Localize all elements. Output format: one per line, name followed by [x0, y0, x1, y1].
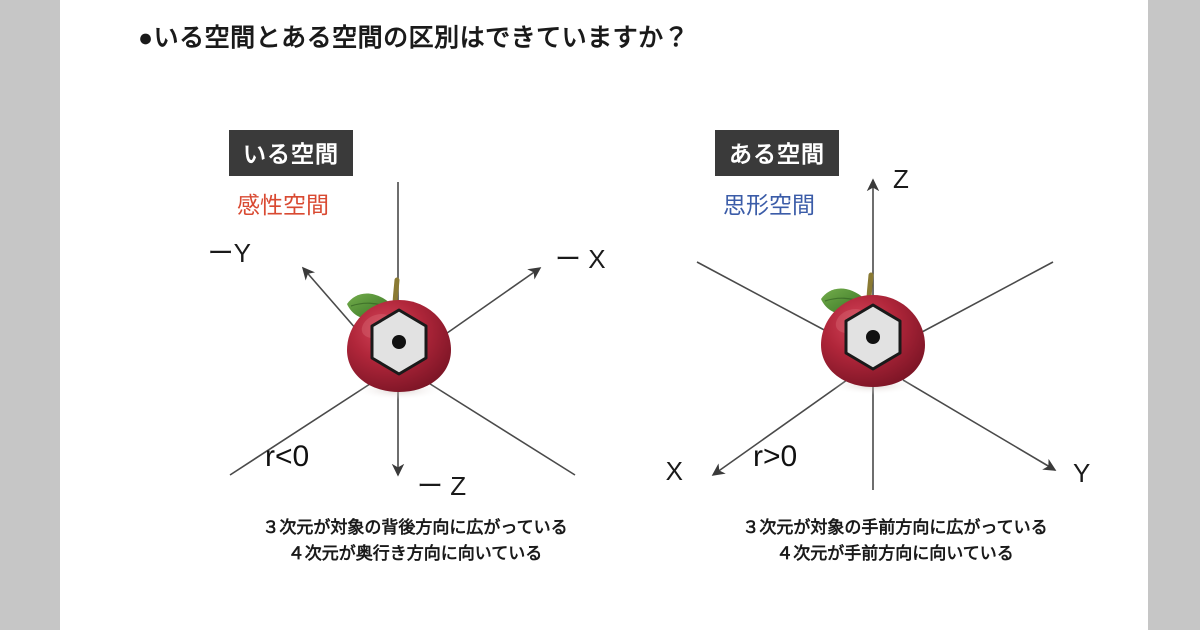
axis-diagram-right: Z X Y [635, 150, 1155, 530]
axis-label-z: Z [893, 164, 909, 194]
axis-line-y-back [427, 382, 575, 475]
axis-line-neg-x-back [907, 262, 1053, 340]
axis-line-y [903, 380, 1055, 470]
axis-label-y: Y [1073, 458, 1090, 488]
slide-content-area: ●いる空間とある空間の区別はできていますか？ いる空間 感性空間 [60, 0, 1148, 630]
axis-line-neg-y [303, 268, 370, 345]
letterbox-band-right [1148, 0, 1200, 630]
caption-line-2-right: ４次元が手前方向に向いている [635, 541, 1155, 567]
axis-line-neg-y-back [697, 262, 843, 340]
letterbox-band-left [0, 0, 60, 630]
slide-canvas: ●いる空間とある空間の区別はできていますか？ いる空間 感性空間 [0, 0, 1200, 630]
axis-label-neg-y: ーY [208, 238, 251, 268]
caption-line-1-right: ３次元が対象の手前方向に広がっている [635, 515, 1155, 541]
caption-line-2-left: ４次元が奥行き方向に向いている [155, 541, 675, 567]
panel-caption-left: ３次元が対象の背後方向に広がっている ４次元が奥行き方向に向いている [155, 515, 675, 568]
panel-aru-kuukan: ある空間 思形空間 [635, 110, 1155, 610]
r-value-left: r<0 [265, 440, 309, 474]
axis-label-x: X [666, 456, 683, 486]
axis-line-neg-x [430, 268, 540, 345]
caption-line-1-left: ３次元が対象の背後方向に広がっている [155, 515, 675, 541]
axis-label-neg-x: ー X [555, 244, 606, 274]
axis-diagram-left: ーY ー X ー Z [155, 150, 675, 530]
panel-iru-kuukan: いる空間 感性空間 [155, 110, 675, 610]
axis-label-neg-z: ー Z [417, 471, 466, 501]
page-title: ●いる空間とある空間の区別はできていますか？ [138, 18, 689, 54]
r-value-right: r>0 [753, 440, 797, 474]
panel-caption-right: ３次元が対象の手前方向に広がっている ４次元が手前方向に向いている [635, 515, 1155, 568]
